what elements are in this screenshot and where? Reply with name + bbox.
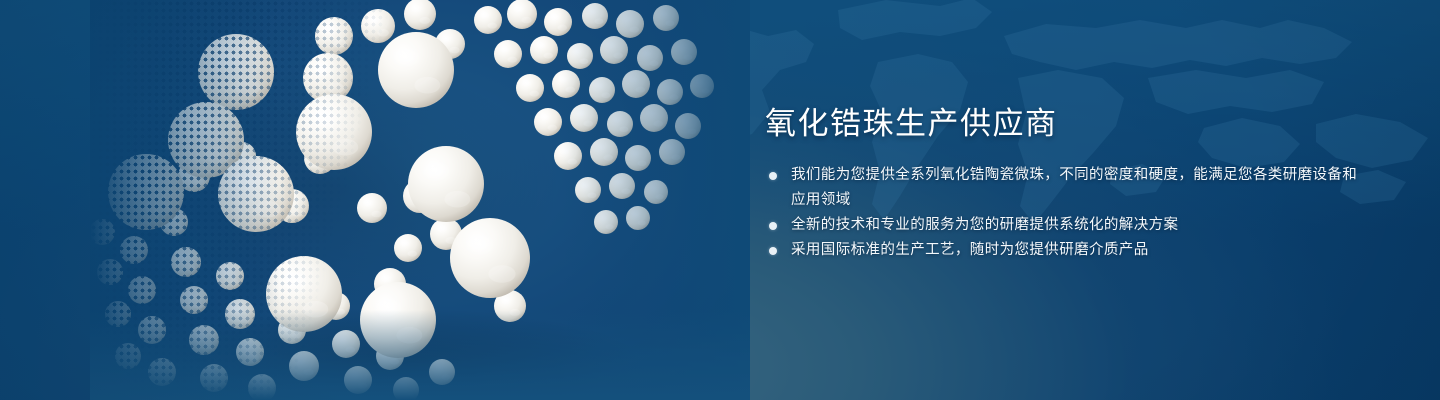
- bullet-text: 采用国际标准的生产工艺，随时为您提供研磨介质产品: [791, 242, 1149, 258]
- bullet-text: 全新的技术和专业的服务为您的研磨提供系统化的解决方案: [791, 217, 1178, 233]
- list-item: 我们能为您提供全系列氧化锆陶瓷微珠，不同的密度和硬度，能满足您各类研磨设备和应用…: [765, 163, 1365, 213]
- bullet-dot-icon: [769, 247, 777, 255]
- hero-banner: 氧化锆珠生产供应商 我们能为您提供全系列氧化锆陶瓷微珠，不同的密度和硬度，能满足…: [0, 0, 1440, 400]
- list-item: 全新的技术和专业的服务为您的研磨提供系统化的解决方案: [765, 213, 1365, 238]
- bullet-dot-icon: [769, 172, 777, 180]
- banner-text-block: 氧化锆珠生产供应商 我们能为您提供全系列氧化锆陶瓷微珠，不同的密度和硬度，能满足…: [765, 104, 1365, 263]
- bullet-dot-icon: [769, 222, 777, 230]
- banner-headline: 氧化锆珠生产供应商: [765, 104, 1365, 144]
- banner-bullet-list: 我们能为您提供全系列氧化锆陶瓷微珠，不同的密度和硬度，能满足您各类研磨设备和应用…: [765, 163, 1365, 263]
- bullet-text: 我们能为您提供全系列氧化锆陶瓷微珠，不同的密度和硬度，能满足您各类研磨设备和应用…: [791, 167, 1357, 208]
- list-item: 采用国际标准的生产工艺，随时为您提供研磨介质产品: [765, 238, 1365, 263]
